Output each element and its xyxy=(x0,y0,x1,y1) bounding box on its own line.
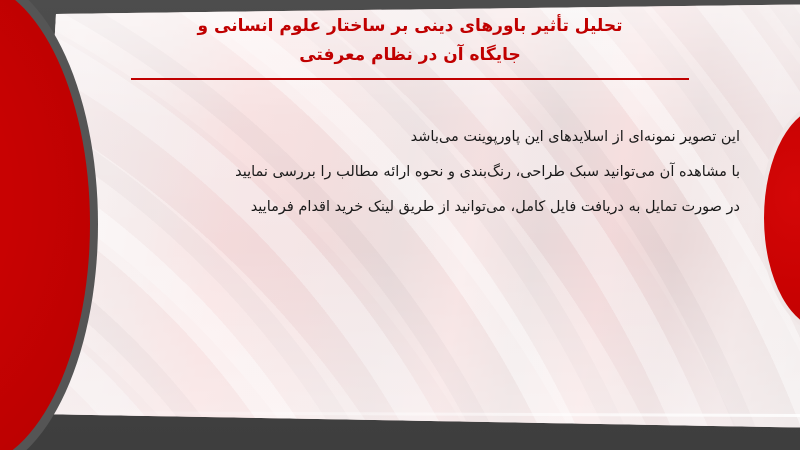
title-divider-rule xyxy=(131,78,689,80)
presentation-slide: تحلیل تأثیر باورهای دینی بر ساختار علوم … xyxy=(0,0,800,450)
slide-title-line-2: جایگاه آن در نظام معرفتی xyxy=(110,41,710,70)
slide-title-line-1: تحلیل تأثیر باورهای دینی بر ساختار علوم … xyxy=(110,12,710,41)
body-line-1: این تصویر نمونه‌ای از اسلایدهای این پاور… xyxy=(40,120,740,155)
body-line-3: در صورت تمایل به دریافت فایل کامل، می‌تو… xyxy=(40,190,740,225)
body-line-2: با مشاهده آن می‌توانید سبک طراحی، رنگ‌بن… xyxy=(40,155,740,190)
slide-body-text: این تصویر نمونه‌ای از اسلایدهای این پاور… xyxy=(40,120,740,225)
slide-title: تحلیل تأثیر باورهای دینی بر ساختار علوم … xyxy=(110,12,710,70)
